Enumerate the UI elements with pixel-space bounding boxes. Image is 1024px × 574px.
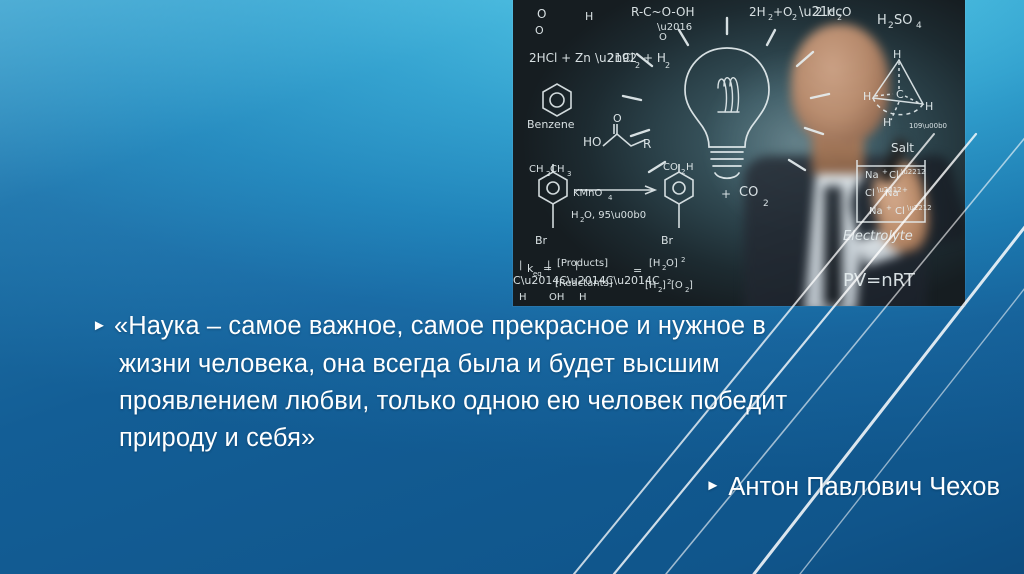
quote-attribution: ►Антон Павлович Чехов [0, 470, 1000, 505]
svg-text:R: R [643, 137, 651, 151]
svg-text:3: 3 [567, 170, 571, 178]
svg-text:Salt: Salt [891, 141, 914, 155]
svg-text:H: H [571, 210, 579, 221]
svg-text:2: 2 [763, 199, 769, 209]
svg-text:O: O [537, 7, 546, 21]
svg-text:Cl: Cl [865, 188, 875, 199]
svg-text:H: H [863, 90, 871, 103]
svg-text:2nCl: 2nCl [607, 51, 634, 65]
svg-text:HO: HO [583, 135, 601, 149]
svg-text:CO: CO [663, 162, 678, 173]
svg-text:+O: +O [773, 5, 793, 19]
svg-text:O: O [659, 32, 667, 43]
svg-text:Electrolyte: Electrolyte [843, 229, 913, 244]
svg-text:\u2212: \u2212 [907, 204, 932, 212]
svg-text:109\u00b0: 109\u00b0 [909, 122, 947, 130]
svg-text:PV=nRT: PV=nRT [843, 270, 916, 291]
svg-text:|: | [575, 260, 578, 271]
quote-line-2: жизни человека, она всегда была и будет … [92, 346, 882, 383]
svg-text:O: O [613, 112, 622, 125]
svg-text:CH: CH [529, 164, 544, 175]
svg-text:Na: Na [869, 206, 883, 217]
svg-text:|: | [519, 260, 522, 271]
svg-text:Br: Br [535, 234, 548, 247]
svg-text:H: H [877, 13, 887, 28]
svg-text:2: 2 [792, 13, 797, 22]
svg-text:R-C~O-OH: R-C~O-OH [631, 5, 695, 19]
svg-text:+: + [902, 186, 908, 194]
svg-text:2H: 2H [749, 5, 766, 19]
svg-text:SO: SO [894, 13, 912, 28]
svg-text:Na: Na [865, 170, 879, 181]
chalk-drawings: O O H R-C~O-OH \u2016 O 2H 2 +O 2 \u21cc… [513, 0, 965, 306]
chalkboard-photo: O O H R-C~O-OH \u2016 O 2H 2 +O 2 \u21cc… [513, 0, 965, 306]
bullet-marker-icon: ► [92, 307, 107, 344]
svg-text:O]: O] [666, 258, 678, 269]
svg-text:H: H [925, 100, 933, 113]
svg-text:4: 4 [916, 21, 922, 31]
svg-text:[H: [H [649, 258, 660, 269]
svg-text:Br: Br [661, 234, 674, 247]
svg-text:H: H [883, 116, 891, 129]
svg-text:]: ] [689, 280, 693, 291]
svg-text:2HCl + Zn: 2HCl + Zn [529, 51, 591, 65]
svg-text:Cl: Cl [895, 206, 905, 217]
quote-line-4: природу и себя» [92, 420, 882, 457]
svg-text:O: O [842, 5, 851, 19]
quote-text-block: ►«Наука – самое важное, самое прекрасное… [92, 308, 882, 457]
svg-text:H: H [686, 162, 694, 173]
svg-text:\u2212: \u2212 [901, 168, 926, 176]
svg-text:|: | [547, 260, 550, 271]
quote-line-1-text: «Наука – самое важное, самое прекрасное … [114, 312, 766, 340]
bullet-marker-icon: ► [706, 469, 721, 503]
svg-text:H: H [519, 292, 527, 303]
svg-text:[Products]: [Products] [557, 258, 608, 269]
svg-text:H: H [893, 48, 901, 61]
svg-text:+: + [886, 204, 892, 212]
quote-line-1: ►«Наука – самое важное, самое прекрасное… [92, 308, 882, 346]
quote-line-3: проявлением любви, только одною ею челов… [92, 383, 882, 420]
author-name: Антон Павлович Чехов [728, 473, 1000, 501]
svg-text:Na: Na [885, 188, 899, 199]
svg-text:2: 2 [635, 61, 640, 70]
svg-text:2 H: 2 H [815, 5, 835, 19]
svg-text:4: 4 [608, 194, 613, 202]
svg-text:2: 2 [888, 21, 894, 31]
svg-text:O, 95\u00b0: O, 95\u00b0 [584, 210, 646, 221]
svg-text:H: H [585, 10, 593, 23]
svg-text:O: O [535, 24, 544, 37]
svg-text:C\u2014C\u2014C\u2014C: C\u2014C\u2014C\u2014C [513, 274, 660, 287]
svg-text:]: ] [662, 280, 666, 291]
svg-text:CO: CO [739, 185, 758, 200]
svg-text:2: 2 [665, 61, 670, 70]
svg-text:H: H [579, 292, 587, 303]
svg-text:2: 2 [681, 256, 685, 264]
svg-text:[O: [O [671, 280, 683, 291]
svg-text:Cl: Cl [889, 170, 899, 181]
svg-text:OH: OH [549, 292, 564, 303]
svg-text:+: + [882, 168, 888, 176]
svg-text:C: C [896, 88, 904, 101]
slide-canvas: O O H R-C~O-OH \u2016 O 2H 2 +O 2 \u21cc… [0, 0, 1024, 574]
svg-text:Benzene: Benzene [527, 118, 575, 131]
svg-text:+ H: + H [643, 51, 666, 65]
svg-text:+: + [721, 187, 731, 201]
